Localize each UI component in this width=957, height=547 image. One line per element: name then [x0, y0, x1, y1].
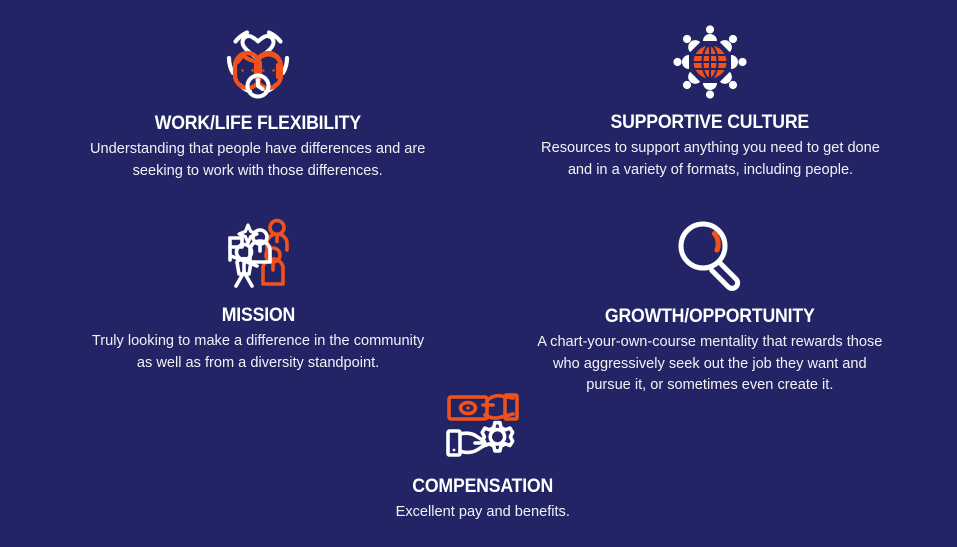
card-work-life-flexibility: WORK/LIFE FLEXIBILITY Understanding that…: [23, 22, 493, 181]
card-body: Excellent pay and benefits.: [396, 501, 570, 523]
people-heart-clock-icon: [222, 22, 294, 102]
card-body: A chart-your-own-course mentality that r…: [537, 331, 882, 396]
card-body: Understanding that people have differenc…: [90, 138, 425, 181]
card-supportive-culture: SUPPORTIVE CULTURE Resources to support …: [475, 22, 945, 180]
card-body: Truly looking to make a difference in th…: [92, 330, 424, 373]
card-mission: MISSION Truly looking to make a differen…: [23, 214, 493, 373]
card-growth-opportunity: GROWTH/OPPORTUNITY A chart-your-own-cour…: [475, 214, 945, 396]
card-body: Resources to support anything you need t…: [541, 137, 880, 180]
card-title: COMPENSATION: [413, 476, 554, 498]
magnifying-glass-icon: [670, 214, 750, 294]
hand-money-gear-icon: [445, 389, 521, 463]
person-flag-team-icon: [218, 214, 298, 294]
card-title: MISSION: [221, 305, 294, 327]
card-compensation: COMPENSATION Excellent pay and benefits.: [248, 389, 718, 523]
card-title: SUPPORTIVE CULTURE: [611, 112, 810, 134]
globe-people-network-icon: [670, 22, 750, 102]
benefits-infographic: WORK/LIFE FLEXIBILITY Understanding that…: [0, 0, 957, 547]
card-title: GROWTH/OPPORTUNITY: [605, 306, 815, 328]
card-title: WORK/LIFE FLEXIBILITY: [155, 113, 361, 135]
